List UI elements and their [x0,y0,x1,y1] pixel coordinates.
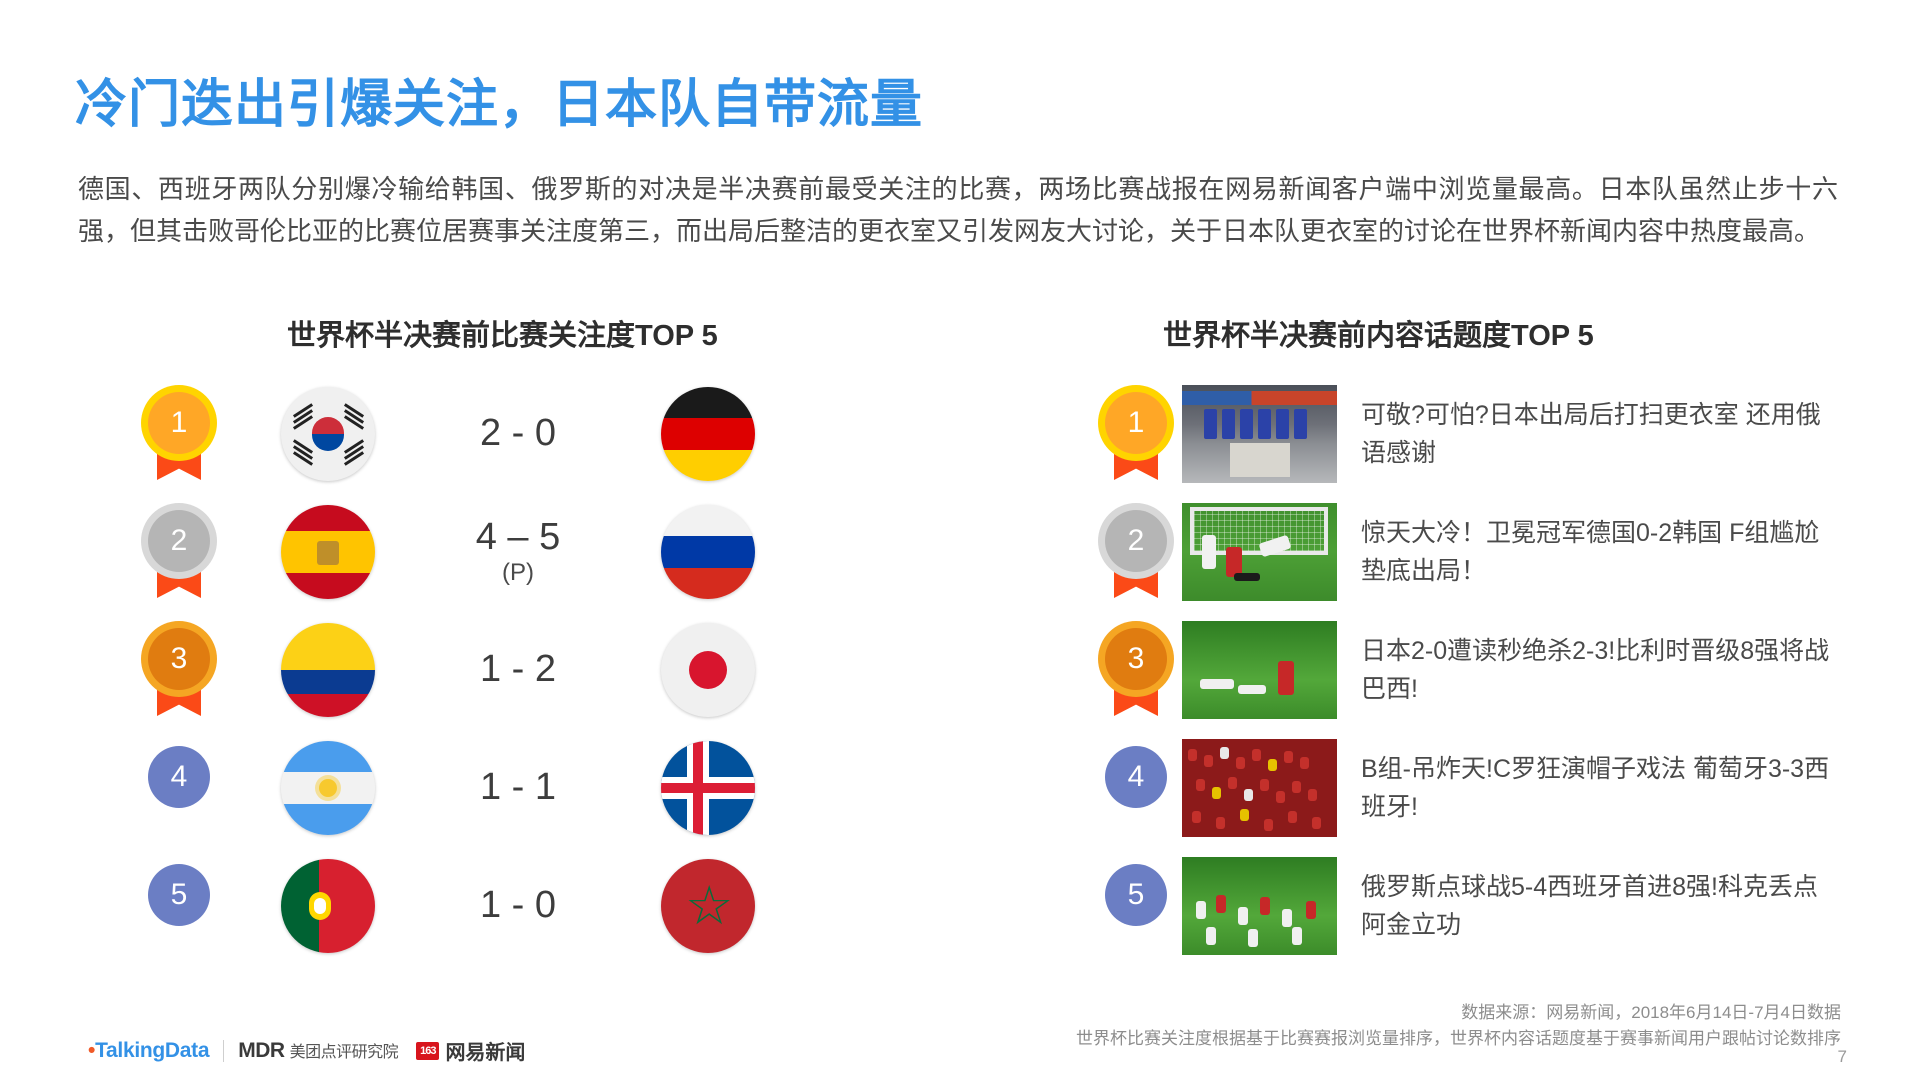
rank-badge-3: 3 [1105,628,1167,712]
news-headline[interactable]: B组-吊炸天!C罗狂演帽子戏法 葡萄牙3-3西班牙! [1361,750,1831,826]
germany-flag-icon [661,387,755,481]
news-thumbnail[interactable] [1182,857,1337,955]
home-flag-cell [238,505,418,599]
news-headline[interactable]: 俄罗斯点球战5-4西班牙首进8强!科克丢点阿金立功 [1361,868,1831,944]
rank-badge-1: 1 [148,392,210,476]
intro-paragraph: 德国、西班牙两队分别爆冷输给韩国、俄罗斯的对决是半决赛前最受关注的比赛，两场比赛… [78,168,1838,252]
rank-cell: 2 [120,510,238,594]
rank-number: 5 [1105,864,1167,926]
rank-cell: 5 [1090,864,1182,948]
footer-logos: •TalkingData MDR美团点评研究院 163 网易新闻 [88,1036,525,1065]
away-flag-cell [618,623,798,717]
rank-cell: 3 [1090,628,1182,712]
content-topic-list: 1 可敬?可怕?日本出局后打扫更衣室 还用俄语感谢 2 [1090,375,1850,965]
rank-cell: 4 [1090,746,1182,830]
rank-cell: 1 [120,392,238,476]
slide-root: 冷门迭出引爆关注，日本队自带流量 德国、西班牙两队分别爆冷输给韩国、俄罗斯的对决… [0,0,1921,1080]
colombia-flag-icon [281,623,375,717]
score-value: 4 – 5 [476,516,561,558]
match-score: 1 - 0 [418,886,618,926]
rank-number: 4 [148,746,210,808]
news-headline[interactable]: 日本2-0遭读秒绝杀2-3!比利时晋级8强将战巴西! [1361,632,1831,708]
match-row: 3 1 - 2 [120,611,900,729]
rank-badge-5: 5 [148,864,210,948]
match-score: 2 - 0 [418,414,618,454]
score-value: 1 - 1 [480,766,556,808]
score-value: 1 - 2 [480,648,556,690]
match-score: 1 - 1 [418,768,618,808]
news-row: 4 B组-吊炸天!C罗狂演帽子戏法 葡萄牙3-3西班牙! [1090,729,1850,847]
rank-cell: 5 [120,864,238,948]
news-thumbnail[interactable] [1182,385,1337,483]
news-row: 1 可敬?可怕?日本出局后打扫更衣室 还用俄语感谢 [1090,375,1850,493]
away-flag-cell [618,741,798,835]
netease-logo-text: 网易新闻 [445,1036,525,1065]
news-row: 3 日本2-0遭读秒绝杀2-3!比利时晋级8强将战巴西! [1090,611,1850,729]
match-row: 2 4 – 5 (P) [120,493,900,611]
korea-flag-icon [281,387,375,481]
home-flag-cell [238,741,418,835]
argentina-flag-icon [281,741,375,835]
score-value: 2 - 0 [480,412,556,454]
rank-badge-4: 4 [1105,746,1167,830]
match-attention-list: 1 2 - 0 [120,375,900,965]
portugal-flag-icon [281,859,375,953]
home-flag-cell [238,387,418,481]
page-number: 7 [1838,1047,1847,1067]
match-row: 1 2 - 0 [120,375,900,493]
talkingdata-logo: •TalkingData [88,1039,209,1063]
logo-divider [223,1040,224,1062]
rank-cell: 3 [120,628,238,712]
spain-flag-icon [281,505,375,599]
source-line-2: 世界杯比赛关注度根据基于比赛赛报浏览量排序，世界杯内容话题度基于赛事新闻用户跟帖… [1076,1026,1841,1052]
away-flag-cell: ☆ [618,859,798,953]
rank-cell: 2 [1090,510,1182,594]
match-score: 1 - 2 [418,650,618,690]
rank-badge-5: 5 [1105,864,1167,948]
right-panel-heading: 世界杯半决赛前内容话题度TOP 5 [1163,312,1594,354]
match-row: 4 1 - 1 [120,729,900,847]
penalty-note: (P) [418,560,618,585]
rank-badge-3: 3 [148,628,210,712]
rank-cell: 1 [1090,392,1182,476]
home-flag-cell [238,859,418,953]
russia-flag-icon [661,505,755,599]
rank-number: 3 [1105,628,1167,690]
rank-number: 2 [1105,510,1167,572]
left-panel-heading: 世界杯半决赛前比赛关注度TOP 5 [287,312,718,354]
news-row: 2 惊天大冷！卫冕冠军德国0-2韩国 F组尴尬垫底出局！ [1090,493,1850,611]
news-thumbnail[interactable] [1182,739,1337,837]
rank-number: 1 [148,392,210,454]
match-score: 4 – 5 (P) [418,518,618,585]
away-flag-cell [618,387,798,481]
rank-number: 1 [1105,392,1167,454]
rank-badge-2: 2 [1105,510,1167,594]
rank-number: 2 [148,510,210,572]
rank-number: 4 [1105,746,1167,808]
home-flag-cell [238,623,418,717]
news-headline[interactable]: 惊天大冷！卫冕冠军德国0-2韩国 F组尴尬垫底出局！ [1361,514,1831,590]
talkingdata-logo-text: TalkingData [95,1039,209,1062]
source-line-1: 数据来源：网易新闻，2018年6月14日-7月4日数据 [1076,1000,1841,1026]
rank-number: 5 [148,864,210,926]
news-headline[interactable]: 可敬?可怕?日本出局后打扫更衣室 还用俄语感谢 [1361,396,1831,472]
score-value: 1 - 0 [480,884,556,926]
page-title: 冷门迭出引爆关注，日本队自带流量 [75,62,923,137]
morocco-flag-icon: ☆ [661,859,755,953]
rank-badge-2: 2 [148,510,210,594]
rank-badge-4: 4 [148,746,210,830]
mdr-logo-text: MDR [238,1039,284,1062]
netease-news-logo: 163 网易新闻 [416,1036,525,1065]
away-flag-cell [618,505,798,599]
rank-badge-1: 1 [1105,392,1167,476]
iceland-flag-icon [661,741,755,835]
rank-cell: 4 [120,746,238,830]
match-row: 5 1 - 0 ☆ [120,847,900,965]
japan-flag-icon [661,623,755,717]
news-thumbnail[interactable] [1182,621,1337,719]
netease-mark: 163 [416,1042,439,1060]
source-note: 数据来源：网易新闻，2018年6月14日-7月4日数据 世界杯比赛关注度根据基于… [1076,1000,1841,1052]
rank-number: 3 [148,628,210,690]
mdr-logo-subtext: 美团点评研究院 [290,1044,399,1061]
mdr-logo: MDR美团点评研究院 [238,1038,398,1063]
news-row: 5 俄罗斯点球战5-4西班牙首进8强!科克丢点阿金立功 [1090,847,1850,965]
news-thumbnail[interactable] [1182,503,1337,601]
